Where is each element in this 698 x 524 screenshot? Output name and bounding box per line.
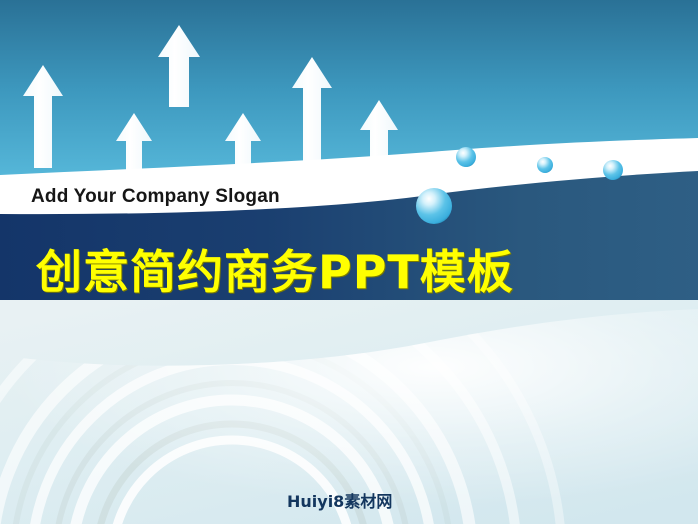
page-title[interactable]: 创意简约商务PPT模板 <box>36 236 514 302</box>
presentation-slide: Add Your Company Slogan 创意简约商务PPT模板 Huiy… <box>0 0 698 524</box>
bubble-large <box>416 188 452 224</box>
bubble-small <box>537 157 553 173</box>
bubble-medium <box>456 147 476 167</box>
bubble-right <box>603 160 623 180</box>
footer-watermark: Huiyi8素材网 <box>287 488 392 512</box>
company-slogan-placeholder[interactable]: Add Your Company Slogan <box>31 186 280 208</box>
